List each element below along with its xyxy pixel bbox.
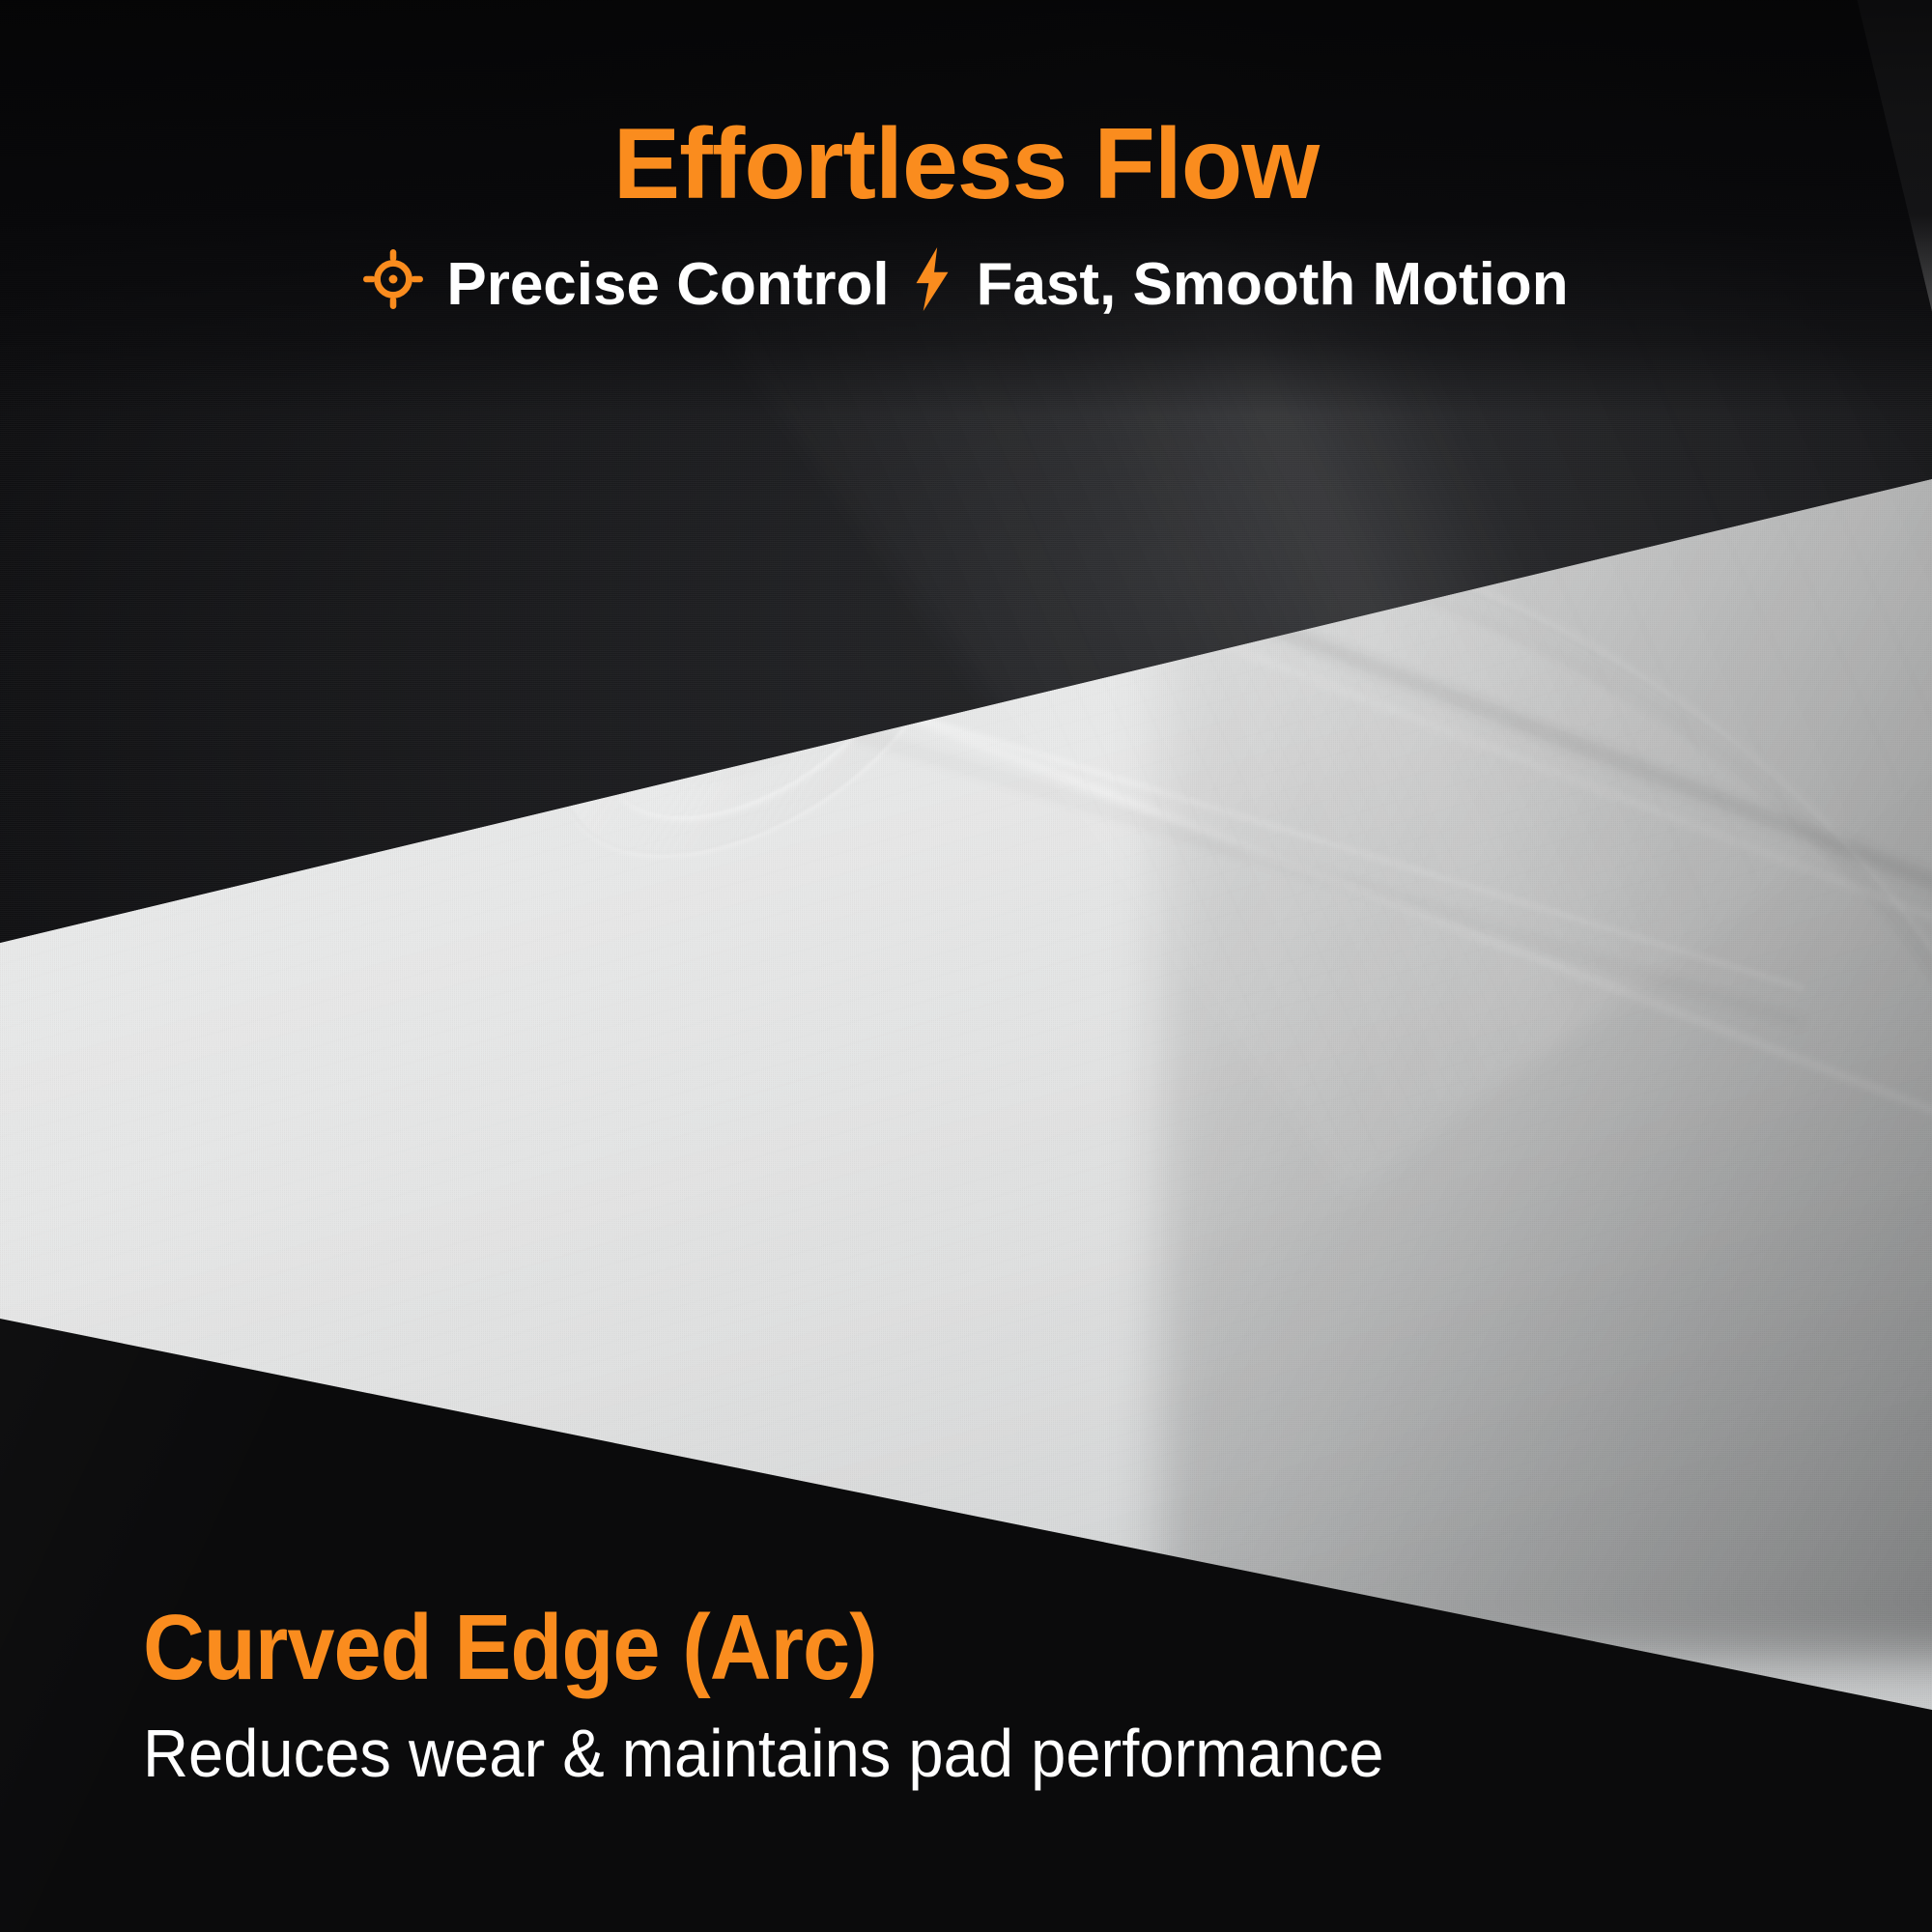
target-icon — [363, 249, 423, 320]
feature-item-fast-smooth-motion: Fast, Smooth Motion — [911, 247, 1569, 322]
feature-description: Reduces wear & maintains pad performance — [143, 1719, 1384, 1787]
feature-list: Precise Control Fast, Smooth Motion — [0, 214, 1932, 322]
lightning-bolt-icon — [911, 247, 953, 322]
feature-label-precise-control: Precise Control — [446, 255, 889, 315]
feature-label-fast-smooth-motion: Fast, Smooth Motion — [977, 255, 1569, 315]
product-feature-banner: Effortless Flow Precise Control — [0, 0, 1932, 1932]
page-title: Effortless Flow — [0, 0, 1932, 214]
feature-title: Curved Edge (Arc) — [143, 1602, 1371, 1694]
top-text-block: Effortless Flow Precise Control — [0, 0, 1932, 322]
bottom-text-block: Curved Edge (Arc) Reduces wear & maintai… — [143, 1602, 1477, 1787]
feature-item-precise-control: Precise Control — [363, 249, 889, 320]
